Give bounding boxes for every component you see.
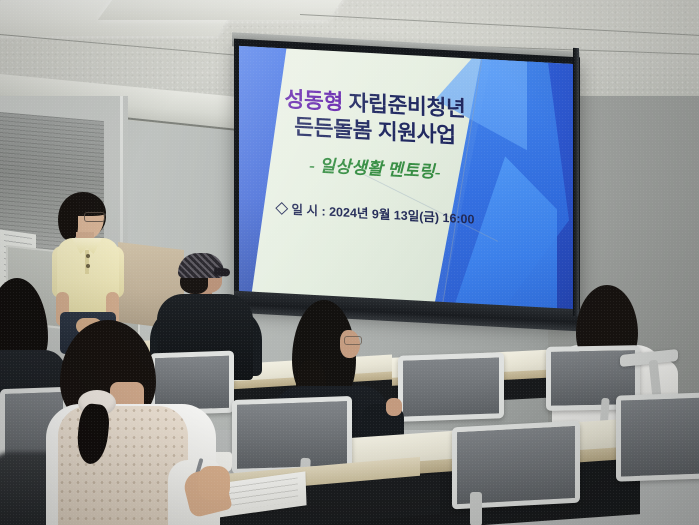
presenter-hair-side bbox=[58, 200, 78, 240]
chair-leg bbox=[470, 492, 482, 525]
attendee-foreground-hand bbox=[198, 466, 230, 500]
slide-title-highlight: 성동형 bbox=[284, 87, 342, 114]
presenter-glasses bbox=[84, 212, 105, 222]
ceiling-light-panel bbox=[98, 0, 353, 20]
attendee-center-hand bbox=[386, 398, 402, 416]
screen-right-edge bbox=[573, 48, 579, 316]
presenter-button bbox=[86, 264, 90, 268]
projected-slide: 성동형 자립준비청년 든든돌봄 지원사업 - 일상생활 멘토링- ◇ 일 시 :… bbox=[239, 46, 575, 314]
slide-date-line: ◇ 일 시 : 2024년 9월 13일(금) 16:00 bbox=[253, 197, 497, 229]
chair bbox=[398, 352, 504, 422]
chair bbox=[232, 396, 352, 474]
attendee-center-glasses bbox=[344, 336, 362, 345]
seminar-room-photo: 성동형 자립준비청년 든든돌봄 지원사업 - 일상생활 멘토링- ◇ 일 시 :… bbox=[0, 0, 699, 525]
slide-title-rest: 자립준비청년 bbox=[343, 91, 466, 122]
slide-subtitle: - 일상생활 멘토링- bbox=[253, 148, 497, 186]
attendee-cap-brim bbox=[214, 267, 231, 277]
presenter-button bbox=[86, 254, 90, 258]
chair bbox=[616, 392, 699, 481]
slide-text-block: 성동형 자립준비청년 든든돌봄 지원사업 - 일상생활 멘토링- ◇ 일 시 :… bbox=[253, 85, 497, 229]
